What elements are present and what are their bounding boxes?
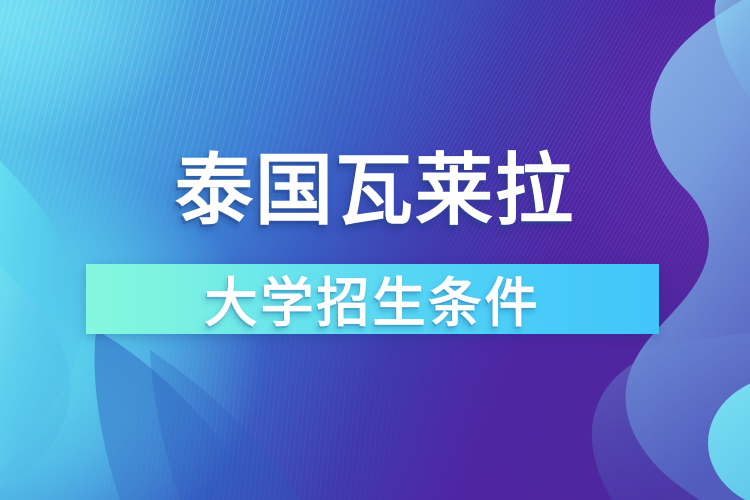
banner-headline: 泰国瓦莱拉 <box>0 148 750 232</box>
banner-subtitle: 大学招生条件 <box>86 264 659 334</box>
promotional-banner: 泰国瓦莱拉 大学招生条件 <box>0 0 750 500</box>
banner-content: 泰国瓦莱拉 大学招生条件 <box>0 0 750 500</box>
